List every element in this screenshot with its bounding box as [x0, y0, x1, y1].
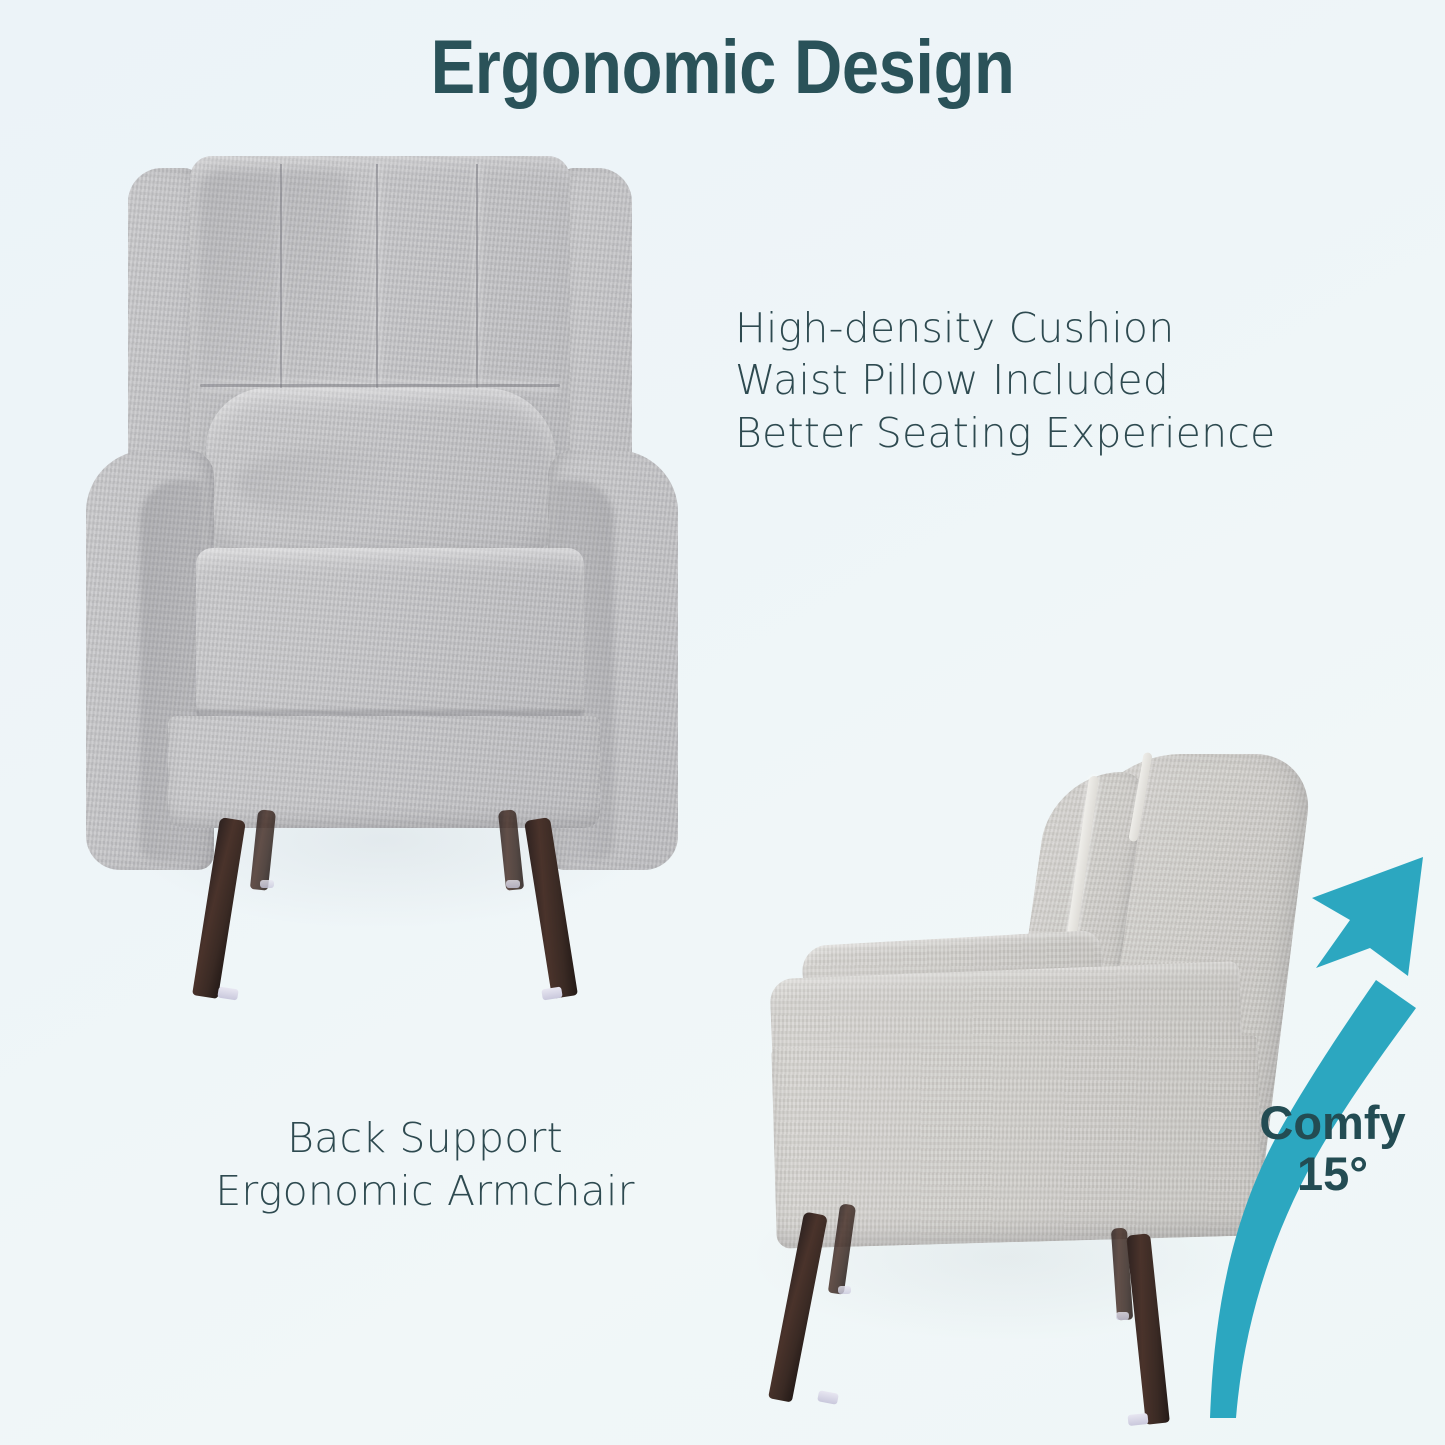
side-chair-glide-front-far — [838, 1286, 851, 1294]
feature-list: High-density Cushion Waist Pillow Includ… — [735, 302, 1375, 459]
side-chair-glide-back-far — [1116, 1312, 1129, 1320]
caption-line-2: Ergonomic Armchair — [130, 1165, 720, 1218]
feature-line-1: High-density Cushion — [735, 302, 1375, 354]
front-chair-base — [168, 716, 600, 828]
page-title: Ergonomic Design — [87, 28, 1359, 108]
comfy-label: Comfy — [1245, 1098, 1420, 1149]
front-chair-seat-cushion — [196, 548, 584, 726]
arrow-head — [1312, 857, 1423, 976]
comfy-callout: Comfy 15° — [1245, 1098, 1420, 1200]
front-chair-waist-pillow — [206, 388, 556, 563]
front-chair-glide-right — [541, 987, 562, 1001]
front-chair-glide-back-right — [506, 880, 520, 888]
feature-line-2: Waist Pillow Included — [735, 354, 1375, 406]
front-chair-image — [78, 150, 688, 990]
pillow-fold — [236, 448, 456, 518]
feature-line-3: Better Seating Experience — [735, 407, 1375, 459]
back-support-caption: Back Support Ergonomic Armchair — [130, 1112, 720, 1219]
comfy-angle-value: 15° — [1245, 1149, 1420, 1200]
front-chair-glide-left — [217, 987, 238, 1001]
caption-line-1: Back Support — [130, 1112, 720, 1165]
front-chair-glide-back-left — [260, 880, 274, 888]
marketing-canvas: Ergonomic Design — [0, 0, 1445, 1445]
side-chair-glide-front — [817, 1390, 839, 1405]
